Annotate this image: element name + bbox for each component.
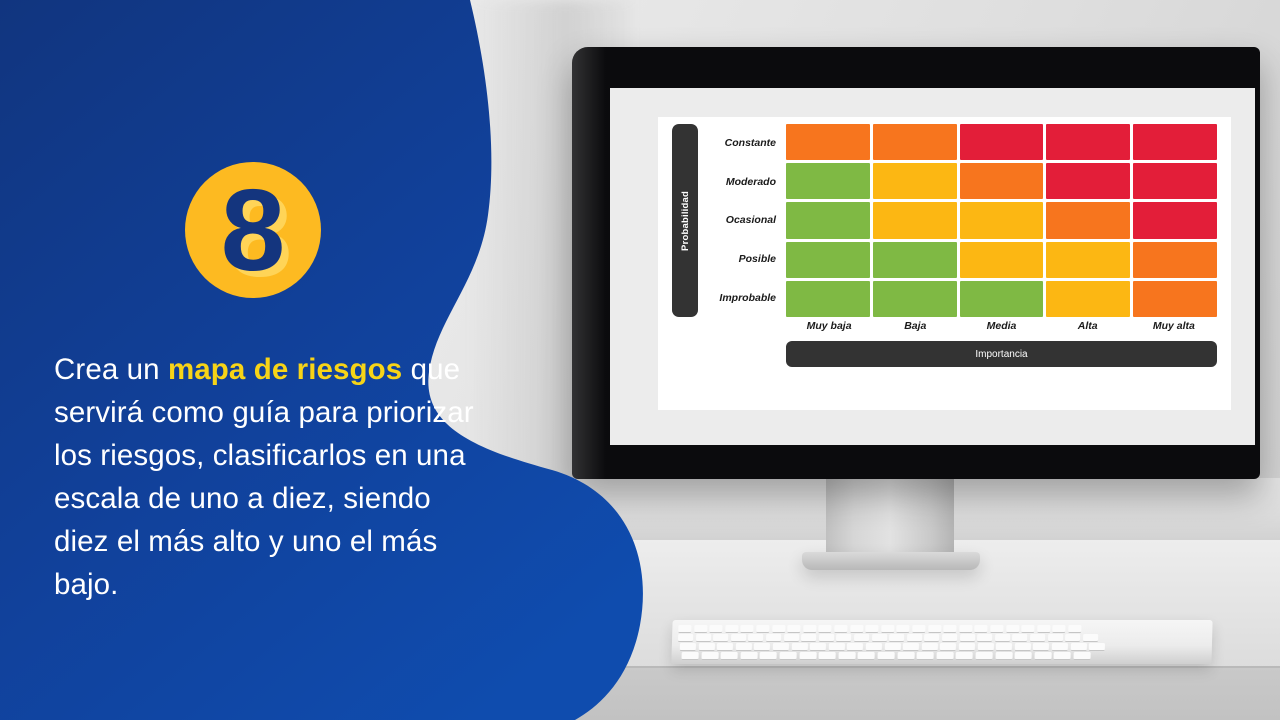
keyboard-key	[1012, 634, 1027, 642]
keyboard-key	[924, 634, 939, 642]
keyboard-key	[922, 643, 938, 651]
matrix-cell	[1046, 202, 1130, 238]
column-label-3: Alta	[1045, 320, 1131, 332]
keyboard-key	[736, 643, 752, 651]
headline-rest: que servirá como guía para priorizar los…	[54, 353, 474, 601]
row-label-0: Constante	[702, 124, 780, 163]
keyboard-key	[694, 625, 707, 633]
keyboard-key	[960, 634, 975, 642]
keyboard-key	[917, 652, 934, 660]
keyboard-key	[847, 643, 863, 651]
keyboard-key	[990, 625, 1003, 633]
keyboard-key	[897, 625, 910, 633]
keyboard-key	[1052, 643, 1068, 651]
column-label-1: Baja	[872, 320, 958, 332]
keyboard-key	[748, 634, 763, 642]
headline-highlight: mapa de riesgos	[168, 353, 402, 386]
keyboard-key	[850, 625, 863, 633]
keyboard-key	[754, 643, 770, 651]
keyboard-key	[787, 625, 800, 633]
matrix-cell	[786, 163, 870, 199]
keyboard-key	[801, 634, 816, 642]
keyboard-key	[1073, 652, 1090, 660]
keyboard-key	[975, 625, 988, 633]
matrix-cell	[1046, 281, 1130, 317]
risk-matrix-document: Probabilidad ConstanteModeradoOcasionalP…	[658, 117, 1231, 410]
matrix-cell	[960, 242, 1044, 278]
slide-canvas: Probabilidad ConstanteModeradoOcasionalP…	[0, 0, 1280, 720]
importance-axis-bar: Importancia	[786, 341, 1217, 367]
matrix-cell	[786, 242, 870, 278]
keyboard-key	[717, 643, 733, 651]
keyboard[interactable]	[671, 620, 1212, 664]
keyboard-key	[959, 643, 975, 651]
keyboard-key	[725, 625, 738, 633]
keyboard-key	[956, 652, 973, 660]
keyboard-key	[1030, 634, 1045, 642]
monitor-stand-foot	[802, 552, 980, 570]
matrix-cell	[873, 163, 957, 199]
row-label-3: Posible	[702, 240, 780, 279]
keyboard-key	[680, 643, 696, 651]
keyboard-key	[1053, 625, 1066, 633]
keyboard-key	[678, 625, 691, 633]
keyboard-key	[803, 625, 816, 633]
slide-content: 8 8 Crea un mapa de riesgos que servirá …	[0, 0, 660, 720]
keyboard-key	[1006, 625, 1019, 633]
keyboard-key	[1068, 625, 1081, 633]
keyboard-key	[836, 634, 851, 642]
keyboard-key	[975, 652, 992, 660]
matrix-cell	[1133, 281, 1217, 317]
keyboard-key	[903, 643, 919, 651]
matrix-cell	[1046, 242, 1130, 278]
keyboard-key	[854, 634, 869, 642]
keyboard-key	[773, 643, 789, 651]
keyboard-key	[829, 643, 845, 651]
column-label-2: Media	[958, 320, 1044, 332]
keyboard-key	[681, 652, 698, 660]
keyboard-key	[791, 643, 807, 651]
keyboard-key	[1033, 643, 1049, 651]
matrix-cell	[1133, 242, 1217, 278]
keyboard-key	[1089, 643, 1105, 651]
keyboard-key	[819, 625, 832, 633]
keyboard-key	[865, 625, 878, 633]
row-label-4: Improbable	[702, 278, 780, 317]
keyboard-key	[889, 634, 904, 642]
keyboard-key	[819, 634, 834, 642]
keyboard-key	[756, 625, 769, 633]
keyboard-key	[784, 634, 799, 642]
matrix-cell	[873, 202, 957, 238]
matrix-cell	[873, 242, 957, 278]
probability-axis-label: Probabilidad	[680, 191, 691, 251]
matrix-cell	[1133, 202, 1217, 238]
keyboard-key	[799, 652, 816, 660]
matrix-cell	[786, 202, 870, 238]
keyboard-key	[701, 652, 718, 660]
keyboard-key	[696, 634, 711, 642]
matrix-cell	[1133, 124, 1217, 160]
keyboard-key	[1083, 634, 1098, 642]
keyboard-key	[943, 625, 956, 633]
column-label-4: Muy alta	[1131, 320, 1217, 332]
matrix-cell	[1046, 163, 1130, 199]
keyboard-key	[995, 652, 1012, 660]
keyboard-key	[995, 634, 1010, 642]
row-label-group: ConstanteModeradoOcasionalPosibleImproba…	[702, 124, 780, 317]
keyboard-key	[779, 652, 796, 660]
matrix-cell	[960, 124, 1044, 160]
keyboard-key	[996, 643, 1012, 651]
keyboard-key	[678, 634, 693, 642]
keyboard-key	[709, 625, 722, 633]
keyboard-key	[698, 643, 714, 651]
matrix-cell	[786, 124, 870, 160]
keyboard-key	[1034, 652, 1051, 660]
step-number-badge: 8 8	[185, 162, 321, 298]
row-label-2: Ocasional	[702, 201, 780, 240]
matrix-cell	[1046, 124, 1130, 160]
keyboard-key	[977, 634, 992, 642]
keyboard-key	[912, 625, 925, 633]
keyboard-key	[1054, 652, 1071, 660]
risk-matrix-grid	[786, 124, 1217, 317]
keyboard-key	[858, 652, 875, 660]
keyboard-key	[772, 625, 785, 633]
keyboard-key	[721, 652, 738, 660]
keyboard-key	[741, 625, 754, 633]
keyboard-key	[1037, 625, 1050, 633]
keyboard-key	[766, 634, 781, 642]
keyboard-key	[838, 652, 855, 660]
matrix-cell	[960, 163, 1044, 199]
keyboard-key	[1065, 634, 1080, 642]
keyboard-key	[881, 625, 894, 633]
keyboard-key	[977, 643, 993, 651]
column-label-0: Muy baja	[786, 320, 872, 332]
column-label-group: Muy bajaBajaMediaAltaMuy alta	[786, 320, 1217, 332]
keyboard-key	[907, 634, 922, 642]
matrix-cell	[873, 281, 957, 317]
keyboard-key	[866, 643, 882, 651]
monitor-screen: Probabilidad ConstanteModeradoOcasionalP…	[610, 88, 1255, 445]
keyboard-key	[810, 643, 826, 651]
keyboard-key	[877, 652, 894, 660]
matrix-cell	[786, 281, 870, 317]
row-label-1: Moderado	[702, 163, 780, 202]
keyboard-key	[897, 652, 914, 660]
keyboard-key	[834, 625, 847, 633]
keyboard-key	[731, 634, 746, 642]
keyboard-key	[819, 652, 836, 660]
headline-prefix: Crea un	[54, 353, 168, 386]
keyboard-key	[936, 652, 953, 660]
importance-axis-label: Importancia	[975, 349, 1027, 360]
headline: Crea un mapa de riesgos que servirá como…	[54, 348, 474, 606]
keyboard-key	[1015, 652, 1032, 660]
keyboard-key	[1021, 625, 1034, 633]
keyboard-key	[760, 652, 777, 660]
risk-matrix: Probabilidad ConstanteModeradoOcasionalP…	[658, 117, 1231, 410]
keyboard-key	[740, 652, 757, 660]
matrix-cell	[960, 202, 1044, 238]
keyboard-key	[884, 643, 900, 651]
keyboard-key	[940, 643, 956, 651]
monitor-stand-neck	[826, 478, 954, 560]
badge-number: 8	[185, 162, 321, 298]
keyboard-key	[959, 625, 972, 633]
probability-axis-bar: Probabilidad	[672, 124, 698, 317]
keyboard-key	[872, 634, 887, 642]
keyboard-key	[1048, 634, 1063, 642]
keyboard-key	[928, 625, 941, 633]
matrix-cell	[873, 124, 957, 160]
matrix-cell	[1133, 163, 1217, 199]
keyboard-key	[942, 634, 957, 642]
matrix-cell	[960, 281, 1044, 317]
keyboard-key	[713, 634, 728, 642]
keyboard-key	[1070, 643, 1086, 651]
keyboard-key	[1015, 643, 1031, 651]
